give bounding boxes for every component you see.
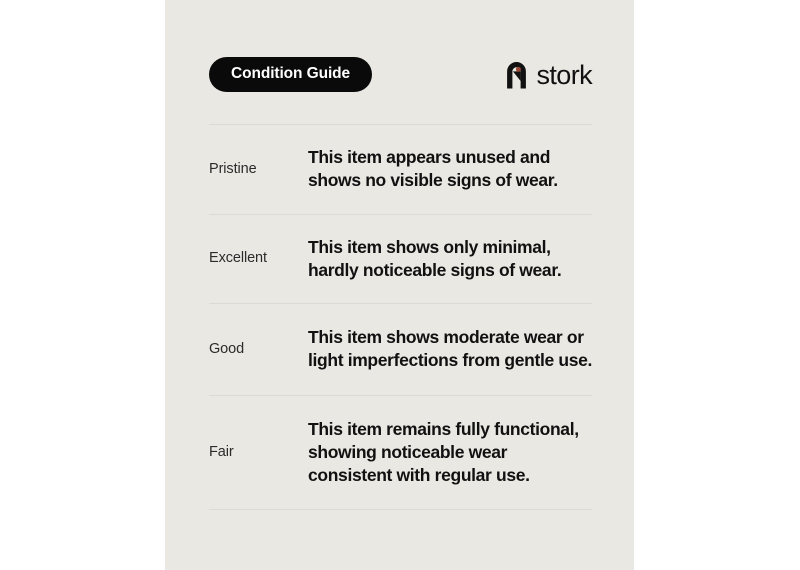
stork-arch-logo-icon [504, 59, 529, 89]
table-row: Pristine This item appears unused and sh… [209, 124, 592, 214]
condition-label: Good [209, 341, 308, 358]
condition-guide-card: Condition Guide stork Pristine This item… [165, 0, 634, 570]
condition-guide-table: Pristine This item appears unused and sh… [209, 124, 592, 510]
condition-description: This item appears unused and shows no vi… [308, 125, 592, 214]
condition-guide-pill-button[interactable]: Condition Guide [209, 57, 372, 92]
table-row: Fair This item remains fully functional,… [209, 395, 592, 511]
brand-lockup: stork [504, 59, 592, 89]
card-header: Condition Guide stork [209, 48, 592, 100]
condition-description: This item shows moderate wear or light i… [308, 304, 592, 395]
condition-label: Excellent [209, 250, 308, 267]
brand-wordmark: stork [536, 62, 592, 89]
table-row: Excellent This item shows only minimal, … [209, 214, 592, 304]
condition-description: This item remains fully functional, show… [308, 396, 592, 510]
condition-label: Fair [209, 444, 308, 461]
page-root: Condition Guide stork Pristine This item… [0, 0, 800, 570]
table-row: Good This item shows moderate wear or li… [209, 303, 592, 395]
condition-label: Pristine [209, 161, 308, 178]
condition-description: This item shows only minimal, hardly not… [308, 215, 592, 304]
